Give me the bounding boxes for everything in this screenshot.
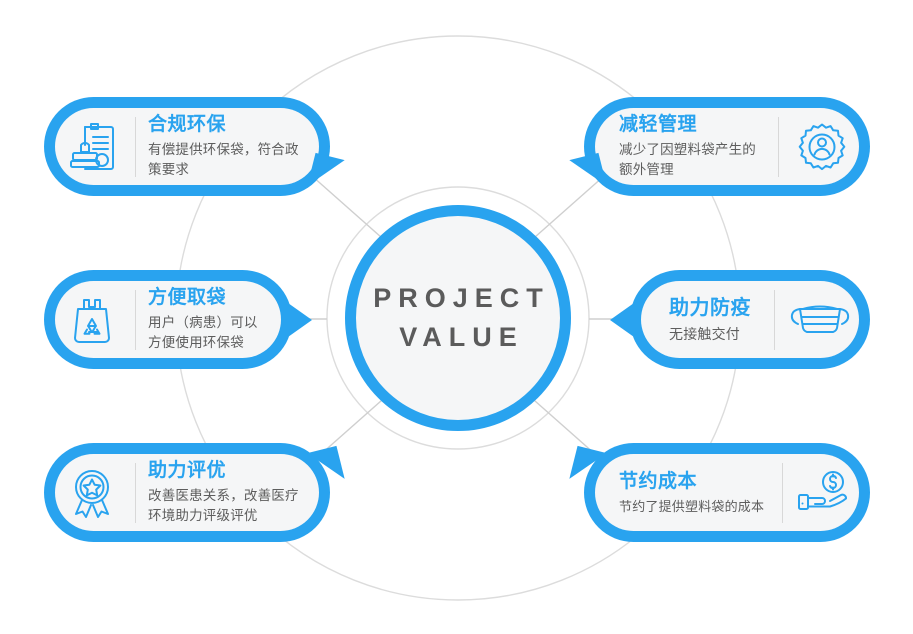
card-desc-evaluation: 改善医患关系，改善医疗 环境助力评级评优 [148, 486, 309, 527]
card-tail-compliance [307, 153, 344, 193]
card-cost[interactable]: 节约成本 节约了提供塑料袋的成本 [584, 443, 870, 542]
card-desc-line: 环境助力评级评优 [148, 506, 309, 526]
card-title-evaluation: 助力评优 [148, 458, 309, 484]
center-title-line2: VALUE [392, 318, 524, 357]
project-value-infographic: PROJECT VALUE [0, 0, 913, 634]
card-divider [135, 463, 136, 523]
hand-money-icon [795, 462, 853, 524]
card-desc-line: 改善医患关系，改善医疗 [148, 486, 309, 506]
card-management[interactable]: 减轻管理 减少了因塑料袋产生的 额外管理 [584, 97, 870, 196]
card-tail-convenience [288, 303, 312, 337]
card-tail-epidemic [610, 303, 634, 337]
card-desc-line: 额外管理 [619, 160, 766, 180]
card-title-convenience: 方便取袋 [148, 285, 271, 311]
card-convenience[interactable]: 方便取袋 用户（病患）可以 方便使用环保袋 [44, 270, 292, 369]
card-desc-compliance: 有偿提供环保袋，符合政 策要求 [148, 140, 309, 181]
card-divider [135, 117, 136, 177]
center-hub: PROJECT VALUE [345, 205, 571, 431]
card-divider [774, 290, 775, 350]
card-desc-cost: 节约了提供塑料袋的成本 [619, 497, 770, 517]
card-desc-line: 无接触交付 [669, 324, 762, 345]
card-divider [135, 290, 136, 350]
card-desc-line: 节约了提供塑料袋的成本 [619, 497, 770, 517]
card-desc-epidemic: 无接触交付 [669, 324, 762, 345]
card-desc-management: 减少了因塑料袋产生的 额外管理 [619, 140, 766, 181]
card-epidemic[interactable]: 助力防疫 无接触交付 [630, 270, 870, 369]
card-desc-line: 有偿提供环保袋，符合政 [148, 140, 309, 160]
card-title-management: 减轻管理 [619, 112, 766, 138]
card-title-epidemic: 助力防疫 [669, 295, 762, 322]
card-title-cost: 节约成本 [619, 469, 770, 495]
face-mask-icon [787, 289, 853, 351]
card-divider [782, 463, 783, 523]
card-desc-convenience: 用户（病患）可以 方便使用环保袋 [148, 313, 271, 354]
card-divider [778, 117, 779, 177]
card-desc-line: 用户（病患）可以 [148, 313, 271, 333]
card-desc-line: 方便使用环保袋 [148, 333, 271, 353]
card-compliance[interactable]: 合规环保 有偿提供环保袋，符合政 策要求 [44, 97, 330, 196]
card-title-compliance: 合规环保 [148, 112, 309, 138]
document-stamp-icon [61, 116, 123, 178]
card-desc-line: 减少了因塑料袋产生的 [619, 140, 766, 160]
award-medal-icon [61, 462, 123, 524]
recycle-bag-icon [61, 289, 123, 351]
card-desc-line: 策要求 [148, 160, 309, 180]
center-title-line1: PROJECT [366, 279, 550, 318]
card-evaluation[interactable]: 助力评优 改善医患关系，改善医疗 环境助力评级评优 [44, 443, 330, 542]
gear-person-icon [791, 116, 853, 178]
